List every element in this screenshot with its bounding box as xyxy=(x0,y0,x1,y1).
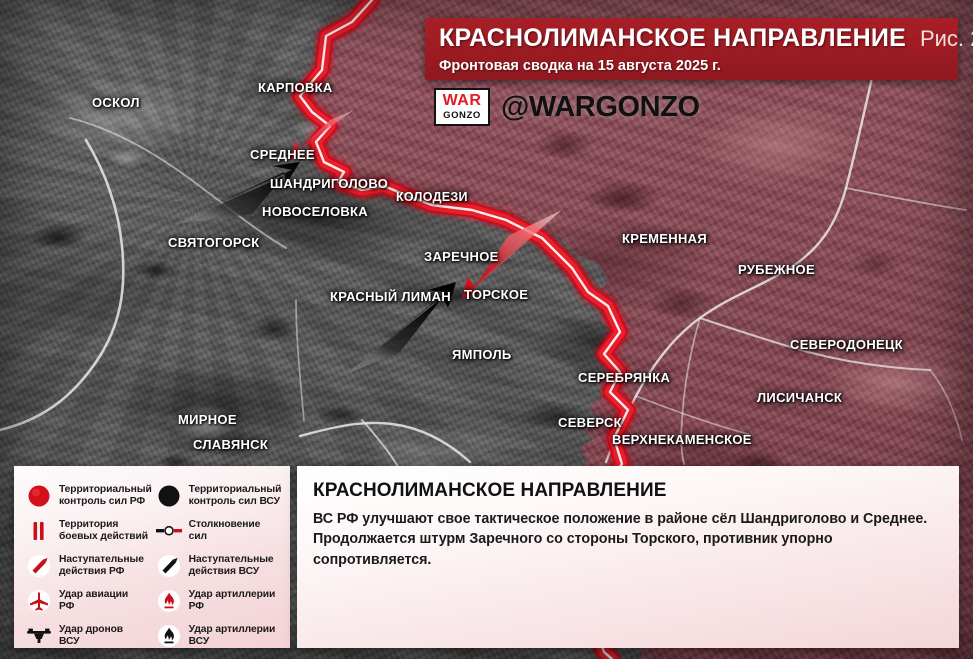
red-artillery-icon xyxy=(156,588,182,614)
logo-word-gonzo: GONZO xyxy=(443,111,481,121)
legend-item: Территориальныйконтроль сил ВСУ xyxy=(156,479,282,512)
legend-item: Удар дроновВСУ xyxy=(26,619,152,652)
header-title: КРАСНОЛИМАНСКОЕ НАПРАВЛЕНИЕ xyxy=(439,24,906,53)
legend-item: Удар артиллерииВСУ xyxy=(156,619,282,652)
legend-item-label: Удар дроновВСУ xyxy=(59,624,123,647)
legend-item: Наступательныедействия РФ xyxy=(26,549,152,582)
header-subtitle: Фронтовая сводка на 15 августа 2025 г. xyxy=(439,58,944,74)
brand-block: WAR GONZO @WARGONZO xyxy=(434,88,700,126)
legend-item-label: Наступательныедействия РФ xyxy=(59,554,144,577)
legend-item-label: Удар артиллерииРФ xyxy=(189,589,276,612)
legend-item: Территориальныйконтроль сил РФ xyxy=(26,479,152,512)
legend-item: Территориябоевых действий xyxy=(26,514,152,547)
legend-item-label: Территориябоевых действий xyxy=(59,519,148,542)
legend-item-label: Удар артиллерииВСУ xyxy=(189,624,276,647)
black-offensive-icon xyxy=(156,553,182,579)
legend-item: Удар артиллерииРФ xyxy=(156,584,282,617)
red-aircraft-icon xyxy=(26,588,52,614)
black-circle-icon xyxy=(156,483,182,509)
legend-panel: Территориальныйконтроль сил РФТерриториа… xyxy=(14,466,290,648)
black-drone-icon xyxy=(26,623,52,649)
summary-title: КРАСНОЛИМАНСКОЕ НАПРАВЛЕНИЕ xyxy=(313,480,939,502)
red-offensive-icon xyxy=(26,553,52,579)
legend-item-label: Территориальныйконтроль сил ВСУ xyxy=(189,484,282,507)
legend-item-label: Наступательныедействия ВСУ xyxy=(189,554,274,577)
red-circle-icon xyxy=(26,483,52,509)
brand-handle: @WARGONZO xyxy=(501,91,700,124)
logo-word-war: WAR xyxy=(443,93,482,109)
figure-number: Рис. 2.4 xyxy=(920,26,973,52)
map-infographic: ОСКОЛКАРПОВКАСРЕДНЕЕШАНДРИГОЛОВОКОЛОДЕЗИ… xyxy=(0,0,973,659)
clash-icon xyxy=(156,518,182,544)
legend-item-label: Территориальныйконтроль сил РФ xyxy=(59,484,152,507)
summary-panel: КРАСНОЛИМАНСКОЕ НАПРАВЛЕНИЕ ВС РФ улучша… xyxy=(297,466,959,648)
summary-text: ВС РФ улучшают свое тактическое положени… xyxy=(313,509,939,570)
legend-item-label: Столкновениесил xyxy=(189,519,261,542)
red-bars-icon xyxy=(26,518,52,544)
black-artillery-icon xyxy=(156,623,182,649)
legend-item: Столкновениесил xyxy=(156,514,282,547)
wargonzo-logo-icon: WAR GONZO xyxy=(434,88,490,126)
legend-item: Удар авиацииРФ xyxy=(26,584,152,617)
header-banner: КРАСНОЛИМАНСКОЕ НАПРАВЛЕНИЕ Рис. 2.4 Фро… xyxy=(425,18,958,80)
legend-item: Наступательныедействия ВСУ xyxy=(156,549,282,582)
legend-item-label: Удар авиацииРФ xyxy=(59,589,128,612)
